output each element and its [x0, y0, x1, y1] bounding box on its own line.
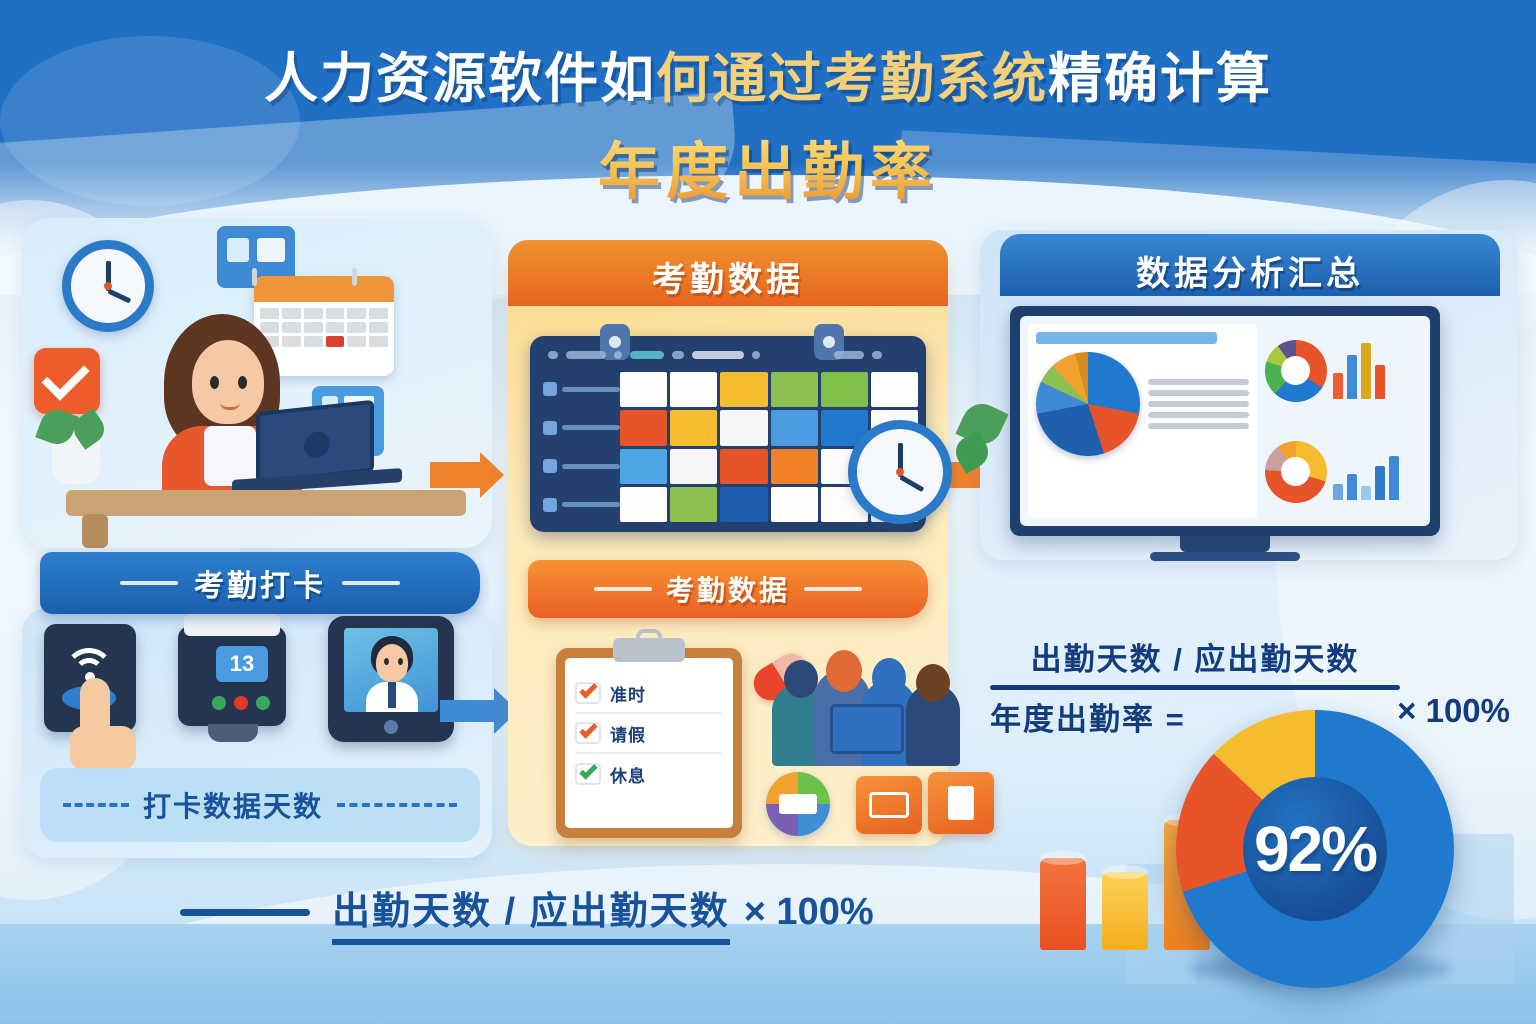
- chip-dash-left: [63, 803, 129, 807]
- desk-leg: [82, 514, 108, 548]
- grid-row-labels: [538, 372, 620, 522]
- color-wheel-icon: [766, 772, 830, 836]
- title-part-gold: 何通过考勤系统: [656, 49, 1048, 109]
- card-reader-stand: [208, 724, 258, 742]
- bottom-formula-multiplier: × 100%: [744, 891, 874, 934]
- formula-multiplier: × 100%: [1397, 692, 1510, 730]
- led-red-icon: [234, 696, 248, 710]
- right-section-title: 数据分析汇总: [1000, 246, 1500, 295]
- dashboard-pie-row: [1036, 352, 1249, 456]
- checklist-item[interactable]: 请假: [575, 714, 723, 754]
- attendance-clock-icon: [848, 420, 952, 524]
- dashboard-side-panel: [1265, 324, 1422, 518]
- desk-surface: [66, 490, 466, 516]
- banner-label: 考勤数据: [666, 569, 790, 609]
- mini-bar-chart-1: [1333, 343, 1385, 399]
- person-head: [872, 658, 906, 698]
- employee-group-illustration: [772, 648, 962, 766]
- formula-label: 年度出勤率 =: [990, 694, 1186, 739]
- bar-2: [1102, 872, 1148, 950]
- grid-row-label: [538, 372, 620, 407]
- divider-dash-left: [594, 587, 652, 591]
- page-subtitle: 年度出勤率: [598, 121, 938, 211]
- clipboard-clip-icon: [613, 638, 685, 662]
- dashboard-donut-bars-1: [1265, 324, 1422, 417]
- badge-card-icon: [856, 776, 922, 834]
- face: [192, 340, 264, 424]
- checklist-label: 休息: [610, 762, 646, 787]
- infographic-poster: 人力资源软件如何通过考勤系统精确计算 年度出勤率: [0, 0, 1536, 1024]
- donut-chart-1: [1265, 340, 1327, 402]
- section-banner-attendance-records: 考勤数据: [528, 560, 928, 618]
- clipboard-paper: 准时 请假 休息: [565, 658, 733, 828]
- person-head: [826, 650, 862, 692]
- dashboard-main-panel: [1028, 324, 1257, 518]
- chip-label: 打卡数据天数: [143, 785, 323, 825]
- checklist-clipboard: 准时 请假 休息: [556, 648, 742, 838]
- document-icon: [928, 772, 994, 834]
- led-green-icon: [212, 696, 226, 710]
- grid-row-label: [538, 411, 620, 446]
- bottom-formula-text: 出勤天数 / 应出勤天数: [332, 880, 730, 945]
- checklist-label: 请假: [610, 721, 646, 746]
- pie-chart: [1036, 352, 1140, 456]
- donut-chart-2: [1265, 441, 1327, 503]
- banner-label: 考勤打卡: [194, 561, 326, 605]
- formula-fraction-bar: [990, 685, 1400, 690]
- face-recognition-terminal: [328, 616, 454, 742]
- donut-center-value: 92%: [1254, 812, 1376, 886]
- monitor-stand: [1180, 536, 1270, 552]
- donut-center: 92%: [1243, 777, 1388, 922]
- section-banner-attendance-punch: 考勤打卡: [40, 552, 480, 614]
- checklist-item[interactable]: 准时: [575, 674, 723, 714]
- workspace-illustration-card: [22, 218, 492, 548]
- divider-dash-right: [342, 581, 400, 585]
- checkbox-checked-icon[interactable]: [575, 682, 601, 704]
- face-skin: [376, 644, 408, 682]
- dashboard-text-lines: [1148, 379, 1249, 429]
- person-head: [784, 660, 818, 698]
- person-head: [916, 664, 950, 702]
- mini-bar-chart-2: [1333, 444, 1399, 500]
- laptop-icon: [830, 704, 904, 754]
- terminal-sensor-icon: [384, 720, 398, 734]
- poster-header: 人力资源软件如何通过考勤系统精确计算 年度出勤率: [0, 0, 1536, 210]
- formula-numerator: 出勤天数 / 应出勤天数: [990, 634, 1400, 679]
- card-slip: [184, 614, 280, 636]
- chip-dash-right: [337, 803, 457, 807]
- bar-1: [1040, 858, 1086, 950]
- arrow-left-to-middle: [430, 462, 482, 488]
- dashboard-title-bar: [1036, 332, 1217, 344]
- card-reader-display: 13: [216, 646, 268, 682]
- checklist-item[interactable]: 休息: [575, 754, 723, 794]
- checkbox-checked-icon[interactable]: [575, 722, 601, 744]
- face-preview: [344, 628, 438, 712]
- checklist-label: 准时: [610, 681, 646, 706]
- dashboard-monitor: [1010, 306, 1440, 536]
- card-reader-device: 13: [178, 626, 286, 726]
- page-title: 人力资源软件如何通过考勤系统精确计算: [264, 34, 1272, 113]
- title-part-white-1: 人力资源软件如: [264, 49, 656, 109]
- calendar-header: [254, 276, 394, 302]
- grid-row-label: [538, 449, 620, 484]
- led-green-2-icon: [256, 696, 270, 710]
- checkbox-checked-icon[interactable]: [575, 763, 601, 785]
- approved-check-badge-icon: [34, 348, 100, 414]
- hand-icon: [70, 726, 136, 770]
- annual-attendance-donut-chart: 92%: [1176, 710, 1454, 988]
- monitor-foot: [1150, 552, 1300, 561]
- grid-row-label: [538, 488, 620, 523]
- title-part-white-2: 精确计算: [1048, 49, 1272, 109]
- monitor-screen: [1020, 316, 1430, 526]
- bottom-formula: 出勤天数 / 应出勤天数 × 100%: [180, 880, 874, 945]
- bottom-formula-dash: [180, 909, 310, 916]
- punch-days-chip: 打卡数据天数: [40, 768, 480, 842]
- dashboard-donut-bars-2: [1265, 425, 1422, 518]
- divider-dash-right: [804, 587, 862, 591]
- arrow-devices-to-checklist: [440, 700, 496, 722]
- annual-attendance-formula: 出勤天数 / 应出勤天数 年度出勤率 = × 100%: [990, 634, 1510, 739]
- grid-toolbar: [538, 344, 918, 366]
- middle-section-title: 考勤数据: [508, 252, 948, 301]
- divider-dash-left: [120, 581, 178, 585]
